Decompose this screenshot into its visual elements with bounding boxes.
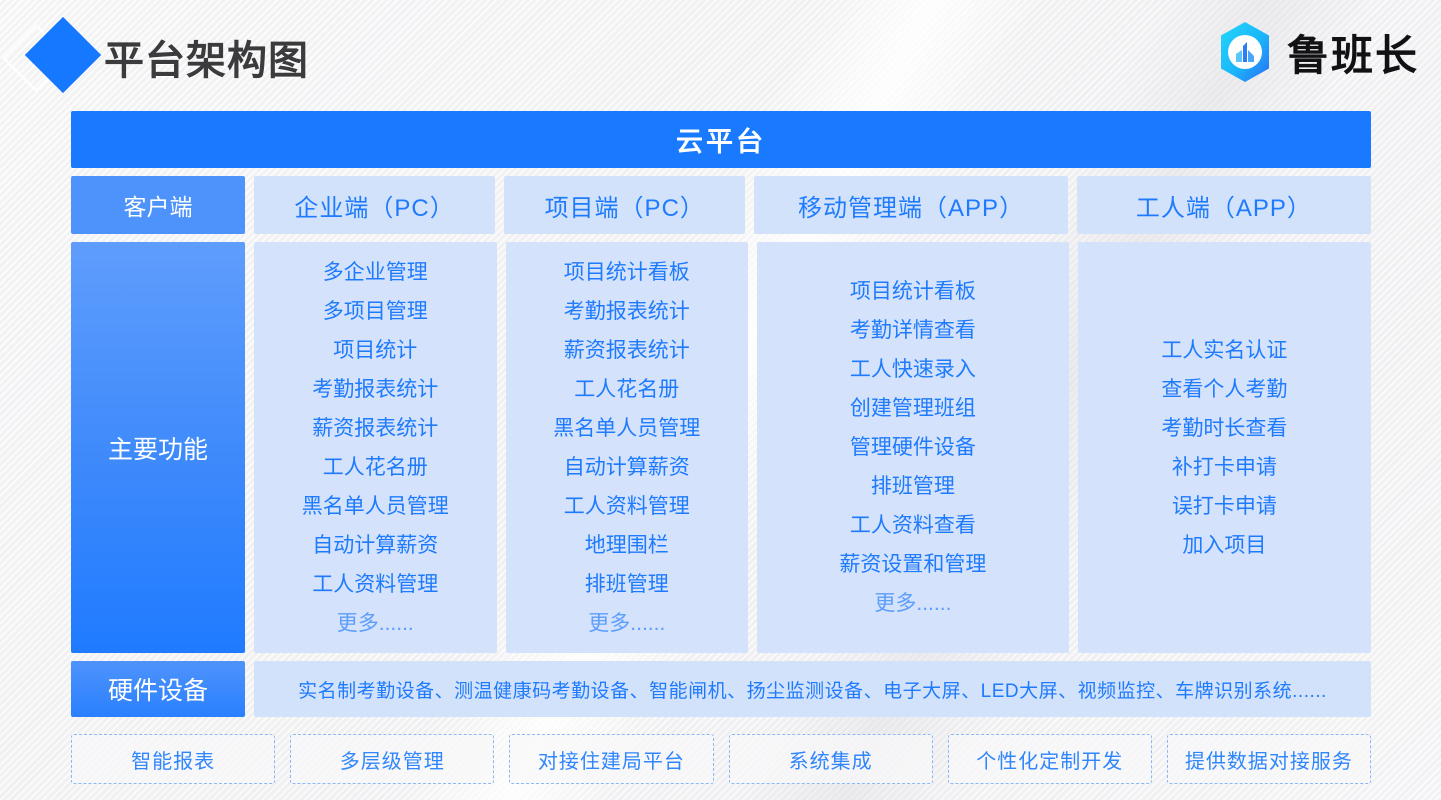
tag-data-service[interactable]: 提供数据对接服务 <box>1167 734 1371 784</box>
tag-custom-development[interactable]: 个性化定制开发 <box>948 734 1152 784</box>
page-header: 平台架构图 鲁班长 <box>0 0 1441 108</box>
list-item: 考勤详情查看 <box>850 311 976 350</box>
list-item: 工人快速录入 <box>850 350 976 389</box>
list-item: 工人资料管理 <box>312 565 438 604</box>
side-label-hardware: 硬件设备 <box>71 661 245 717</box>
list-item: 薪资设置和管理 <box>839 545 986 584</box>
tag-smart-report[interactable]: 智能报表 <box>71 734 275 784</box>
tag-gov-platform-link[interactable]: 对接住建局平台 <box>509 734 713 784</box>
list-item: 考勤报表统计 <box>312 370 438 409</box>
brand-logo: 鲁班长 <box>1213 20 1419 84</box>
list-item: 薪资报表统计 <box>564 331 690 370</box>
client-header-row: 客户端 企业端（PC） 项目端（PC） 移动管理端（APP） 工人端（APP） <box>71 176 1371 234</box>
list-item: 误打卡申请 <box>1172 487 1277 526</box>
side-label-client: 客户端 <box>71 176 245 234</box>
architecture-diagram: 云平台 客户端 企业端（PC） 项目端（PC） 移动管理端（APP） 工人端（A… <box>71 111 1371 784</box>
list-item: 多项目管理 <box>323 292 428 331</box>
column-header-project-pc[interactable]: 项目端（PC） <box>504 176 745 234</box>
list-item: 管理硬件设备 <box>850 428 976 467</box>
list-item: 考勤时长查看 <box>1161 409 1287 448</box>
hardware-row: 硬件设备 实名制考勤设备、测温健康码考勤设备、智能闸机、扬尘监测设备、电子大屏、… <box>71 661 1371 717</box>
list-item: 黑名单人员管理 <box>302 487 449 526</box>
page-title: 平台架构图 <box>104 28 309 86</box>
hexagon-building-logo-icon <box>1213 20 1277 84</box>
list-item: 黑名单人员管理 <box>553 409 700 448</box>
tag-multilevel-manage[interactable]: 多层级管理 <box>290 734 494 784</box>
list-item: 工人花名册 <box>574 370 679 409</box>
column-header-enterprise-pc[interactable]: 企业端（PC） <box>254 176 495 234</box>
diamond-logo <box>8 18 108 94</box>
main-functions-row: 主要功能 多企业管理 多项目管理 项目统计 考勤报表统计 薪资报表统计 工人花名… <box>71 242 1371 653</box>
feature-list-mobile-app: 项目统计看板 考勤详情查看 工人快速录入 创建管理班组 管理硬件设备 排班管理 … <box>757 242 1069 653</box>
feature-list-worker-app: 工人实名认证 查看个人考勤 考勤时长查看 补打卡申请 误打卡申请 加入项目 <box>1078 242 1371 653</box>
list-item: 工人花名册 <box>323 448 428 487</box>
list-item: 补打卡申请 <box>1172 448 1277 487</box>
list-item: 加入项目 <box>1182 526 1266 565</box>
list-item: 工人资料管理 <box>564 487 690 526</box>
list-item-more[interactable]: 更多...... <box>337 604 414 643</box>
brand-name: 鲁班长 <box>1287 22 1419 83</box>
list-item: 查看个人考勤 <box>1161 370 1287 409</box>
list-item: 项目统计看板 <box>564 253 690 292</box>
list-item: 多企业管理 <box>323 253 428 292</box>
hardware-device-list: 实名制考勤设备、测温健康码考勤设备、智能闸机、扬尘监测设备、电子大屏、LED大屏… <box>254 661 1371 717</box>
list-item: 创建管理班组 <box>850 389 976 428</box>
list-item: 考勤报表统计 <box>564 292 690 331</box>
side-label-main-functions: 主要功能 <box>71 242 245 653</box>
list-item-more[interactable]: 更多...... <box>874 584 951 623</box>
list-item: 工人资料查看 <box>850 506 976 545</box>
feature-list-project-pc: 项目统计看板 考勤报表统计 薪资报表统计 工人花名册 黑名单人员管理 自动计算薪… <box>506 242 749 653</box>
capability-tags-row: 智能报表 多层级管理 对接住建局平台 系统集成 个性化定制开发 提供数据对接服务 <box>71 734 1371 784</box>
list-item: 排班管理 <box>871 467 955 506</box>
list-item: 自动计算薪资 <box>312 526 438 565</box>
column-header-worker-app[interactable]: 工人端（APP） <box>1077 176 1371 234</box>
cloud-platform-bar: 云平台 <box>71 111 1371 168</box>
column-header-mobile-app[interactable]: 移动管理端（APP） <box>754 176 1068 234</box>
list-item: 自动计算薪资 <box>564 448 690 487</box>
tag-system-integration[interactable]: 系统集成 <box>729 734 933 784</box>
list-item: 地理围栏 <box>585 526 669 565</box>
feature-list-enterprise-pc: 多企业管理 多项目管理 项目统计 考勤报表统计 薪资报表统计 工人花名册 黑名单… <box>254 242 497 653</box>
list-item: 薪资报表统计 <box>312 409 438 448</box>
list-item: 项目统计 <box>333 331 417 370</box>
list-item-more[interactable]: 更多...... <box>588 604 665 643</box>
list-item: 项目统计看板 <box>850 272 976 311</box>
list-item: 排班管理 <box>585 565 669 604</box>
list-item: 工人实名认证 <box>1161 331 1287 370</box>
